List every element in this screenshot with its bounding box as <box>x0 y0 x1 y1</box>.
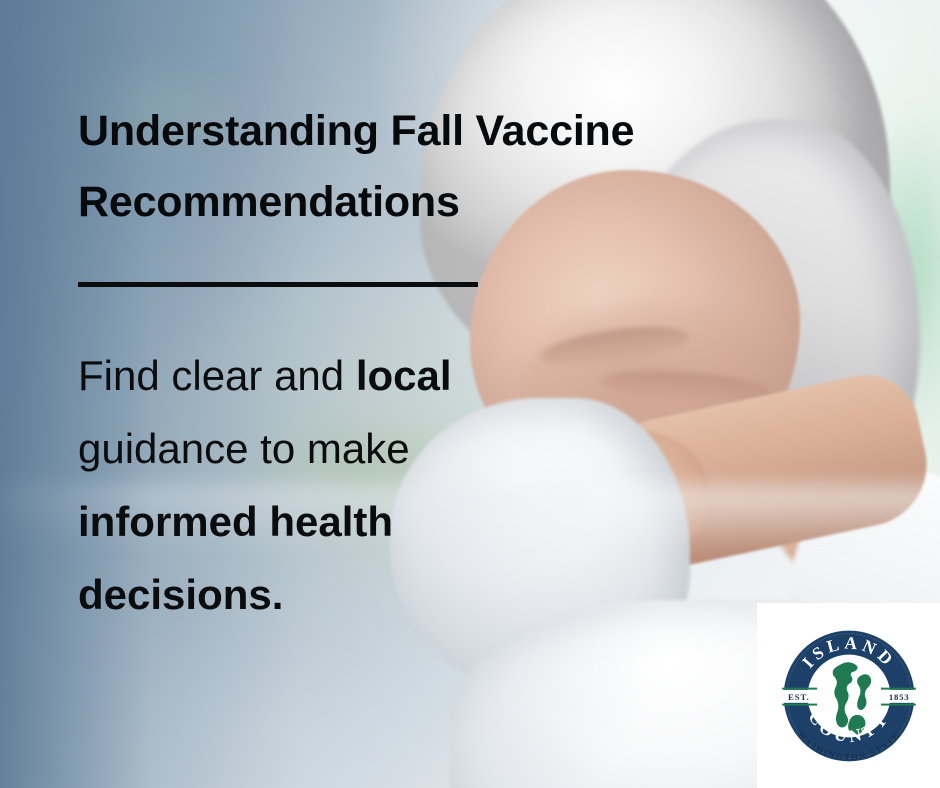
seal-left-green-line-bottom <box>782 703 817 705</box>
poster-canvas: Understanding Fall Vaccine Recommendatio… <box>0 0 940 788</box>
body-copy-segment-0: Find clear and <box>78 352 356 399</box>
text-block: Understanding Fall Vaccine Recommendatio… <box>78 96 778 631</box>
body-copy-segment-1: local <box>356 352 452 399</box>
seal-left-green-line-top <box>782 687 817 689</box>
seal-text-year: 1853 <box>888 691 909 701</box>
seal-right-green-line-top <box>880 687 915 689</box>
body-copy-segment-2: guidance to make <box>78 425 410 472</box>
page-title: Understanding Fall Vaccine Recommendatio… <box>78 96 778 238</box>
island-county-seal: ISLAND COUNTY EST. 1853 WASHINGTON STATE <box>773 620 925 772</box>
body-copy: Find clear and local guidance to make in… <box>78 339 598 631</box>
body-copy-segment-3: informed health decisions. <box>78 498 393 618</box>
logo-card: ISLAND COUNTY EST. 1853 WASHINGTON STATE <box>757 603 940 788</box>
seal-right-green-line-bottom <box>880 703 915 705</box>
divider-rule <box>78 282 478 287</box>
seal-text-est: EST. <box>787 691 809 701</box>
